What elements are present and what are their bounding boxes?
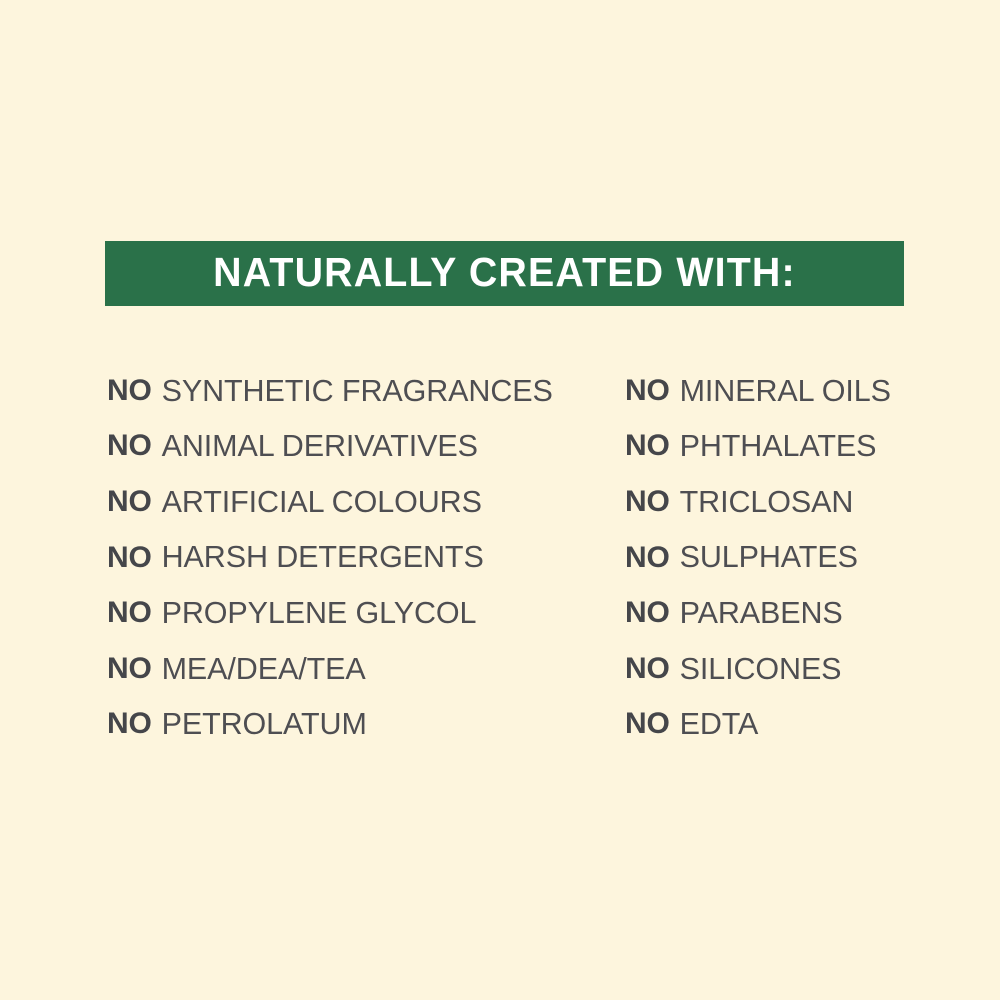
exclusion-row: NOANIMAL DERIVATIVES [107, 419, 553, 475]
exclusion-row: NOSILICONES [625, 641, 891, 697]
exclusion-prefix: NO [625, 376, 670, 406]
exclusion-label: PHTHALATES [680, 431, 877, 462]
exclusion-prefix: NO [107, 431, 152, 461]
exclusion-prefix: NO [107, 543, 152, 573]
exclusion-prefix: NO [625, 709, 670, 739]
exclusion-label: MEA/DEA/TEA [162, 654, 366, 685]
exclusion-label: PARABENS [680, 598, 843, 629]
exclusion-row: NOSULPHATES [625, 530, 891, 586]
exclusion-prefix: NO [625, 487, 670, 517]
exclusion-columns: NOSYNTHETIC FRAGRANCESNOANIMAL DERIVATIV… [0, 363, 1000, 763]
exclusion-label: TRICLOSAN [680, 487, 854, 518]
exclusion-label: ANIMAL DERIVATIVES [162, 431, 478, 462]
exclusion-row: NOTRICLOSAN [625, 474, 891, 530]
exclusion-row: NOPROPYLENE GLYCOL [107, 585, 553, 641]
exclusion-prefix: NO [625, 598, 670, 628]
exclusion-label: ARTIFICIAL COLOURS [162, 487, 482, 518]
exclusion-row: NOEDTA [625, 697, 891, 753]
exclusion-prefix: NO [625, 654, 670, 684]
exclusion-label: PROPYLENE GLYCOL [162, 598, 477, 629]
exclusion-prefix: NO [107, 598, 152, 628]
exclusion-prefix: NO [107, 376, 152, 406]
exclusion-row: NOARTIFICIAL COLOURS [107, 474, 553, 530]
banner: NATURALLY CREATED WITH: [105, 241, 904, 306]
exclusion-row: NOSYNTHETIC FRAGRANCES [107, 363, 553, 419]
exclusion-prefix: NO [625, 431, 670, 461]
exclusion-label: SULPHATES [680, 542, 858, 573]
exclusion-prefix: NO [107, 487, 152, 517]
exclusion-column-left: NOSYNTHETIC FRAGRANCESNOANIMAL DERIVATIV… [107, 363, 553, 752]
exclusion-row: NOPHTHALATES [625, 419, 891, 475]
exclusion-row: NOPARABENS [625, 585, 891, 641]
exclusion-row: NOMEA/DEA/TEA [107, 641, 553, 697]
exclusion-row: NOMINERAL OILS [625, 363, 891, 419]
exclusion-row: NOPETROLATUM [107, 697, 553, 753]
exclusion-prefix: NO [625, 543, 670, 573]
exclusion-label: SILICONES [680, 654, 842, 685]
exclusion-prefix: NO [107, 709, 152, 739]
banner-title: NATURALLY CREATED WITH: [213, 252, 796, 295]
exclusion-row: NOHARSH DETERGENTS [107, 530, 553, 586]
exclusion-list: NOSYNTHETIC FRAGRANCESNOANIMAL DERIVATIV… [0, 363, 1000, 763]
exclusion-label: MINERAL OILS [680, 376, 891, 407]
exclusion-label: HARSH DETERGENTS [162, 542, 484, 573]
exclusion-label: SYNTHETIC FRAGRANCES [162, 376, 553, 407]
exclusion-label: PETROLATUM [162, 709, 367, 740]
ingredient-claims-graphic: NATURALLY CREATED WITH: NOSYNTHETIC FRAG… [0, 0, 1000, 1000]
exclusion-label: EDTA [680, 709, 759, 740]
exclusion-column-right: NOMINERAL OILSNOPHTHALATESNOTRICLOSANNOS… [625, 363, 891, 752]
exclusion-prefix: NO [107, 654, 152, 684]
